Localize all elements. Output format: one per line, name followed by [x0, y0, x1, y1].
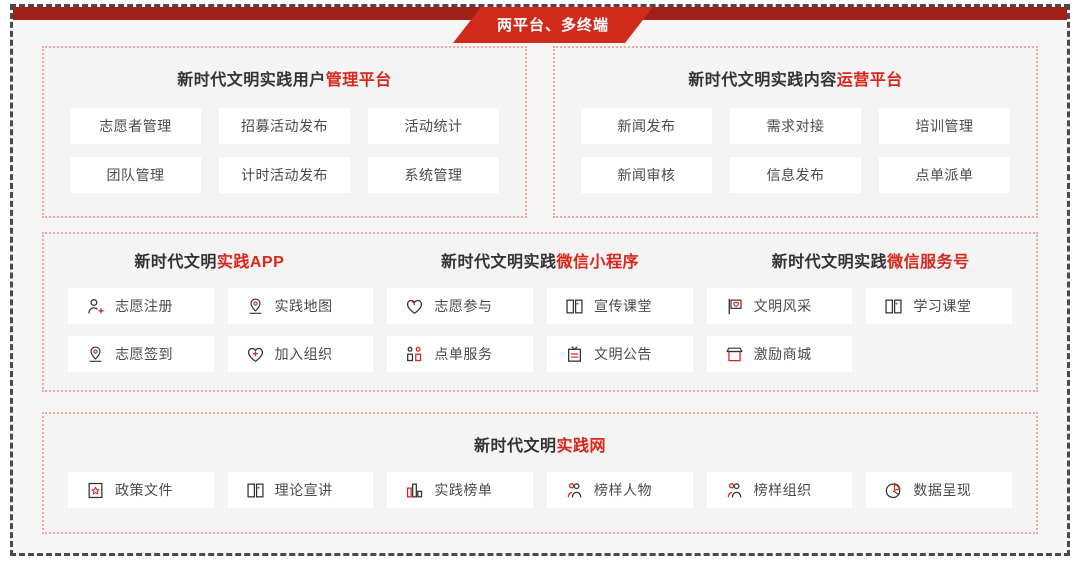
two-people-icon — [725, 481, 744, 500]
map-pin-icon — [246, 297, 265, 316]
card-label: 点单派单 — [916, 165, 974, 185]
card-label: 文明风采 — [754, 296, 812, 316]
card-volunteer-participation[interactable]: 志愿参与 — [387, 288, 533, 324]
panel-title-app-plain: 新时代文明 — [134, 254, 217, 271]
clipboard-icon — [565, 345, 584, 364]
card-activity-statistics[interactable]: 活动统计 — [368, 108, 499, 144]
panel-title-miniprogram-plain: 新时代文明实践 — [441, 254, 557, 271]
panel-content-operations-platform: 新时代文明实践内容运营平台 新闻发布 需求对接 培训管理 新闻审核 信息发布 点… — [553, 46, 1038, 218]
operations-card-grid: 新闻发布 需求对接 培训管理 新闻审核 信息发布 点单派单 — [555, 108, 1036, 193]
heart-icon — [405, 297, 424, 316]
panel-title-miniprogram-highlight: 微信小程序 — [556, 254, 639, 271]
card-label: 激励商城 — [754, 344, 812, 364]
card-order-dispatch[interactable]: 点单派单 — [879, 157, 1010, 193]
panel-title-app-highlight: 实践APP — [217, 254, 284, 271]
card-system-management[interactable]: 系统管理 — [368, 157, 499, 193]
card-incentive-mall[interactable]: 激励商城 — [707, 336, 853, 372]
pie-chart-icon — [884, 481, 903, 500]
card-timed-activity-publish[interactable]: 计时活动发布 — [219, 157, 350, 193]
card-order-service[interactable]: 点单服务 — [387, 336, 533, 372]
card-label: 志愿者管理 — [99, 116, 172, 136]
panel-title-operations-highlight: 运营平台 — [837, 72, 903, 89]
panel-client-terminals: 新时代文明实践APP 新时代文明实践微信小程序 新时代文明实践微信服务号 — [42, 232, 1038, 392]
panel-title-service-account: 新时代文明实践微信服务号 — [705, 248, 1036, 272]
card-information-publish[interactable]: 信息发布 — [730, 157, 861, 193]
card-label: 学习课堂 — [913, 296, 971, 316]
panel-title-service-account-highlight: 微信服务号 — [887, 254, 970, 271]
open-book-icon — [565, 297, 584, 316]
card-team-management[interactable]: 团队管理 — [70, 157, 201, 193]
card-publicity-classroom[interactable]: 宣传课堂 — [547, 288, 693, 324]
panel-practice-website: 新时代文明实践网 政策文件 — [42, 412, 1038, 534]
card-label: 实践地图 — [275, 296, 333, 316]
card-label: 培训管理 — [916, 116, 974, 136]
card-news-review[interactable]: 新闻审核 — [581, 157, 712, 193]
card-label: 理论宣讲 — [275, 480, 333, 500]
card-label: 信息发布 — [767, 165, 825, 185]
card-join-organization[interactable]: 加入组织 — [228, 336, 374, 372]
heart-plus-icon — [246, 345, 265, 364]
card-volunteer-management[interactable]: 志愿者管理 — [70, 108, 201, 144]
card-recruitment-activity-publish[interactable]: 招募活动发布 — [219, 108, 350, 144]
card-label: 实践榜单 — [434, 480, 492, 500]
map-pin-check-icon — [86, 345, 105, 364]
card-label: 计时活动发布 — [241, 165, 328, 185]
panel-title-web-highlight: 实践网 — [557, 438, 607, 455]
card-label: 志愿注册 — [115, 296, 173, 316]
card-practice-map[interactable]: 实践地图 — [228, 288, 374, 324]
panel-title-app: 新时代文明实践APP — [44, 248, 375, 272]
panel-title-management: 新时代文明实践用户管理平台 — [44, 66, 525, 90]
card-news-publish[interactable]: 新闻发布 — [581, 108, 712, 144]
card-label: 志愿参与 — [434, 296, 492, 316]
panel-title-management-highlight: 管理平台 — [326, 72, 392, 89]
open-book-icon — [884, 297, 903, 316]
card-label: 新闻审核 — [618, 165, 676, 185]
card-label: 宣传课堂 — [594, 296, 652, 316]
card-label: 文明公告 — [594, 344, 652, 364]
flag-heart-icon — [725, 297, 744, 316]
panel-title-web: 新时代文明实践网 — [44, 432, 1036, 456]
platform-architecture-diagram: 两平台、多终端 新时代文明实践用户管理平台 志愿者管理 招募活动发布 活动统计 … — [0, 0, 1080, 562]
panel-title-management-plain: 新时代文明实践用户 — [177, 72, 326, 89]
card-label: 需求对接 — [767, 116, 825, 136]
card-policy-documents[interactable]: 政策文件 — [68, 472, 214, 508]
card-training-management[interactable]: 培训管理 — [879, 108, 1010, 144]
bar-chart-icon — [405, 481, 424, 500]
card-label: 新闻发布 — [618, 116, 676, 136]
card-practice-ranking[interactable]: 实践榜单 — [387, 472, 533, 508]
card-empty-placeholder — [866, 336, 1012, 372]
card-study-classroom[interactable]: 学习课堂 — [866, 288, 1012, 324]
people-pair-icon — [405, 345, 424, 364]
card-label: 政策文件 — [115, 480, 173, 500]
card-label: 活动统计 — [405, 116, 463, 136]
card-volunteer-checkin[interactable]: 志愿签到 — [68, 336, 214, 372]
shop-icon — [725, 345, 744, 364]
card-data-presentation[interactable]: 数据呈现 — [866, 472, 1012, 508]
panel-title-miniprogram: 新时代文明实践微信小程序 — [375, 248, 706, 272]
person-add-icon — [86, 297, 105, 316]
card-label: 榜样组织 — [754, 480, 812, 500]
card-label: 数据呈现 — [913, 480, 971, 500]
panel-title-operations: 新时代文明实践内容运营平台 — [555, 66, 1036, 90]
card-label: 招募活动发布 — [241, 116, 328, 136]
web-card-grid: 政策文件 理论宣讲 — [44, 472, 1036, 508]
apps-card-grid: 志愿注册 实践地图 — [44, 288, 1036, 372]
card-label: 团队管理 — [107, 165, 165, 185]
open-book-icon — [246, 481, 265, 500]
card-role-model-people[interactable]: 榜样人物 — [547, 472, 693, 508]
panel-title-service-account-plain: 新时代文明实践 — [772, 254, 888, 271]
document-star-icon — [86, 481, 105, 500]
card-label: 志愿签到 — [115, 344, 173, 364]
card-civilization-style[interactable]: 文明风采 — [707, 288, 853, 324]
card-civilization-announcement[interactable]: 文明公告 — [547, 336, 693, 372]
card-label: 加入组织 — [275, 344, 333, 364]
card-label: 系统管理 — [405, 165, 463, 185]
panel-title-web-plain: 新时代文明 — [474, 438, 557, 455]
card-demand-matching[interactable]: 需求对接 — [730, 108, 861, 144]
management-card-grid: 志愿者管理 招募活动发布 活动统计 团队管理 计时活动发布 系统管理 — [44, 108, 525, 193]
card-theory-lecture[interactable]: 理论宣讲 — [228, 472, 374, 508]
two-people-icon — [565, 481, 584, 500]
card-label: 榜样人物 — [594, 480, 652, 500]
card-role-model-organization[interactable]: 榜样组织 — [707, 472, 853, 508]
apps-heading-row: 新时代文明实践APP 新时代文明实践微信小程序 新时代文明实践微信服务号 — [44, 248, 1036, 272]
card-volunteer-register[interactable]: 志愿注册 — [68, 288, 214, 324]
card-label: 点单服务 — [434, 344, 492, 364]
panel-user-management-platform: 新时代文明实践用户管理平台 志愿者管理 招募活动发布 活动统计 团队管理 计时活… — [42, 46, 527, 218]
panel-title-operations-plain: 新时代文明实践内容 — [688, 72, 837, 89]
